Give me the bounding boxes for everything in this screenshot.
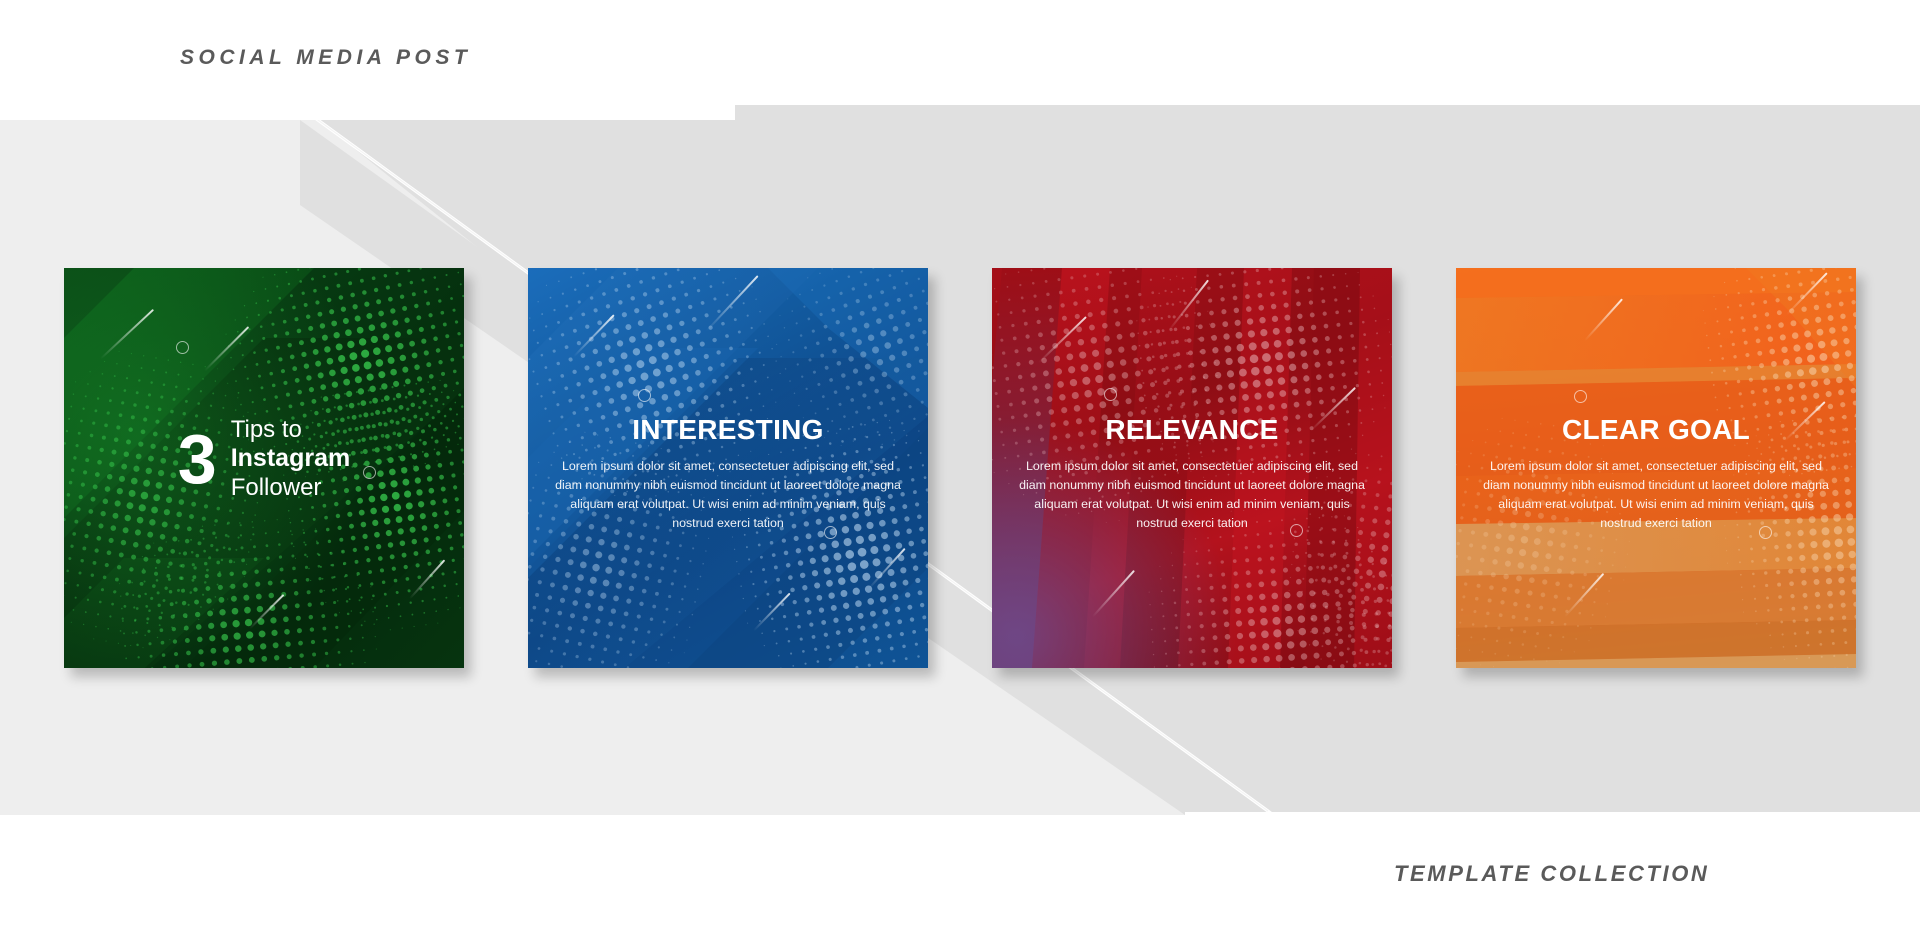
ring-decor: [176, 341, 189, 354]
ring-decor: [638, 389, 651, 402]
card-orange-body: Lorem ipsum dolor sit amet, consectetuer…: [1482, 457, 1830, 532]
card-orange-title: CLEAR GOAL: [1482, 414, 1830, 446]
card-blue-body: Lorem ipsum dolor sit amet, consectetuer…: [554, 457, 902, 532]
card-green-content: 3 Tips to Instagram Follower: [64, 416, 464, 502]
post-card-blue[interactable]: INTERESTING Lorem ipsum dolor sit amet, …: [528, 268, 928, 668]
card-green-number: 3: [178, 427, 217, 491]
footer-kicker: TEMPLATE COLLECTION: [1394, 861, 1709, 887]
post-card-green[interactable]: 3 Tips to Instagram Follower: [64, 268, 464, 668]
card-green-line3: Follower: [231, 474, 350, 502]
post-card-orange[interactable]: CLEAR GOAL Lorem ipsum dolor sit amet, c…: [1456, 268, 1856, 668]
poster-canvas: 3 Tips to Instagram Follower: [0, 0, 1920, 936]
card-blue-title: INTERESTING: [554, 414, 902, 446]
card-blue-content: INTERESTING Lorem ipsum dolor sit amet, …: [528, 414, 928, 532]
card-green-line1: Tips to: [231, 416, 350, 444]
card-red-body: Lorem ipsum dolor sit amet, consectetuer…: [1018, 457, 1366, 532]
header-kicker: SOCIAL MEDIA POST: [180, 46, 471, 70]
ring-decor: [1104, 388, 1117, 401]
card-red-content: RELEVANCE Lorem ipsum dolor sit amet, co…: [992, 414, 1392, 532]
card-green-line2: Instagram: [231, 444, 350, 474]
post-card-red[interactable]: RELEVANCE Lorem ipsum dolor sit amet, co…: [992, 268, 1392, 668]
ring-decor: [1574, 390, 1587, 403]
card-red-title: RELEVANCE: [1018, 414, 1366, 446]
card-orange-content: CLEAR GOAL Lorem ipsum dolor sit amet, c…: [1456, 414, 1856, 532]
